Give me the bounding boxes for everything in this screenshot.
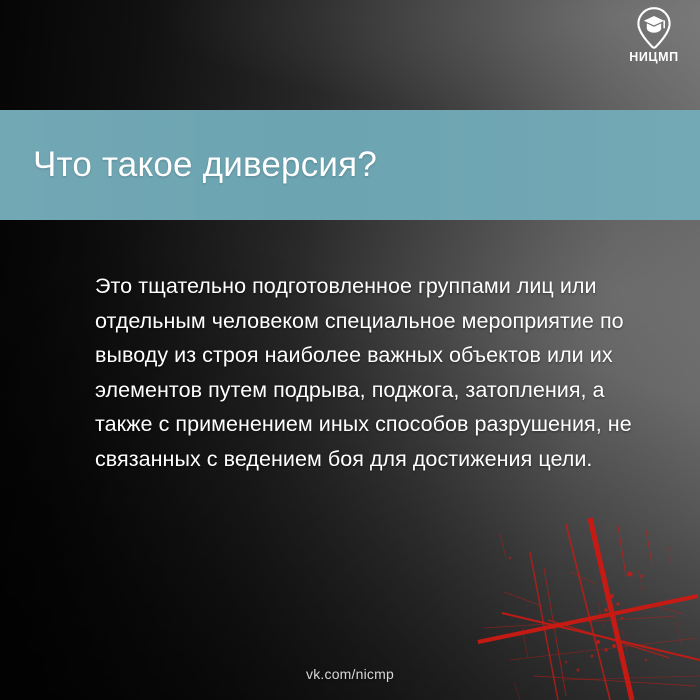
brand-logo-text: НИЦМП (629, 51, 679, 64)
title-banner: Что такое диверсия? (0, 110, 700, 220)
header-sheen (0, 0, 700, 110)
footer-link[interactable]: vk.com/nicmp (0, 666, 700, 682)
page-title: Что такое диверсия? (33, 145, 377, 185)
slide-root: НИЦМП Что такое диверсия? Это тщательно … (0, 0, 700, 700)
body-paragraph: Это тщательно подготовленное группами ли… (95, 269, 640, 476)
graduation-cap-map-pin-icon (634, 6, 674, 50)
header-bar: НИЦМП (0, 0, 700, 110)
brand-logo: НИЦМП (622, 6, 686, 64)
